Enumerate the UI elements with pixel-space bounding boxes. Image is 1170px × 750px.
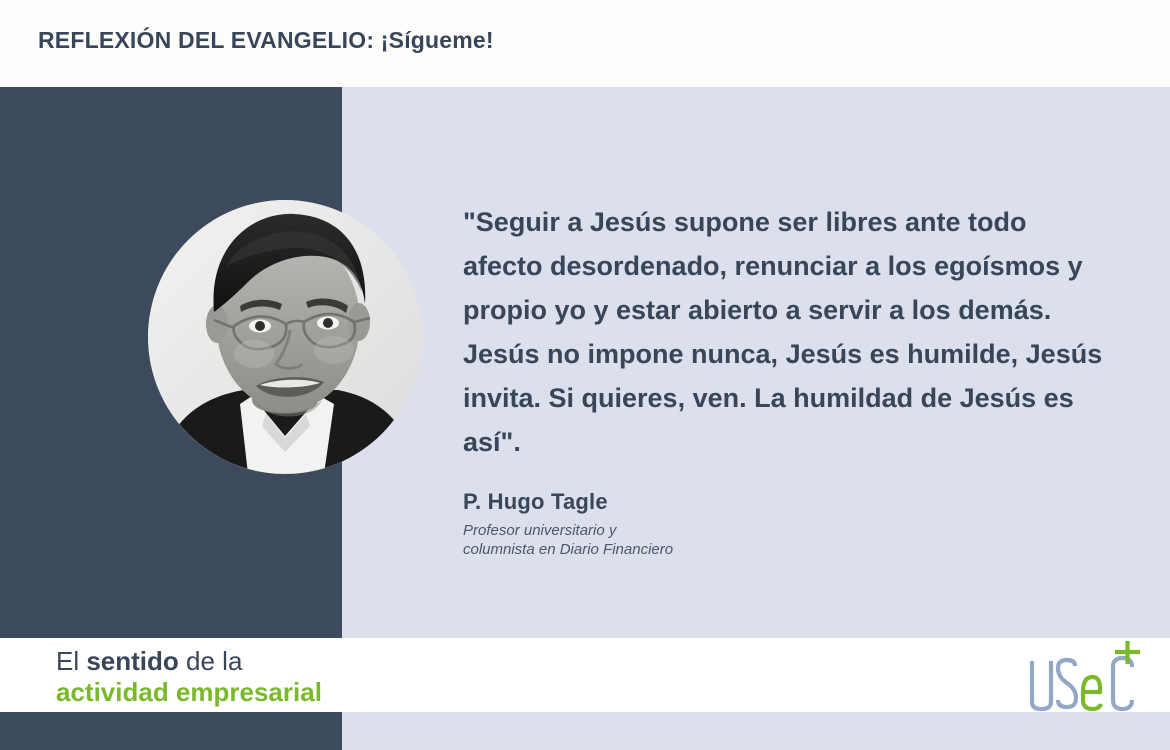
page-title: REFLEXIÓN DEL EVANGELIO: ¡Sígueme! — [38, 27, 494, 54]
bottom-light-strip — [342, 712, 1170, 750]
slide-canvas: REFLEXIÓN DEL EVANGELIO: ¡Sígueme! — [0, 0, 1170, 750]
usec-letter-e — [1083, 677, 1101, 709]
quote-author-role-line1: Profesor universitario y — [463, 521, 863, 540]
usec-letter-s — [1058, 660, 1076, 707]
footer-tagline-line1-post: de la — [179, 646, 243, 676]
quote-author-name: P. Hugo Tagle — [463, 489, 608, 515]
quote-text: "Seguir a Jesús supone ser libres ante t… — [463, 200, 1113, 464]
avatar — [148, 200, 422, 474]
footer-tagline-line1-bold: sentido — [86, 646, 178, 676]
portrait-photo-illustration — [148, 200, 422, 474]
usec-logo[interactable] — [1022, 641, 1140, 713]
usec-logo-mark — [1022, 641, 1140, 713]
bottom-dark-strip — [0, 712, 342, 750]
footer-tagline-line2: actividad empresarial — [56, 677, 322, 708]
usec-letter-u — [1032, 661, 1051, 709]
usec-letter-c — [1113, 658, 1132, 709]
footer-tagline: El sentido de la actividad empresarial — [56, 646, 322, 708]
quote-author-role-line2: columnista en Diario Financiero — [463, 540, 863, 559]
footer-tagline-line1-pre: El — [56, 646, 86, 676]
quote-author-role: Profesor universitario y columnista en D… — [463, 521, 863, 559]
footer-tagline-line1: El sentido de la — [56, 646, 322, 677]
